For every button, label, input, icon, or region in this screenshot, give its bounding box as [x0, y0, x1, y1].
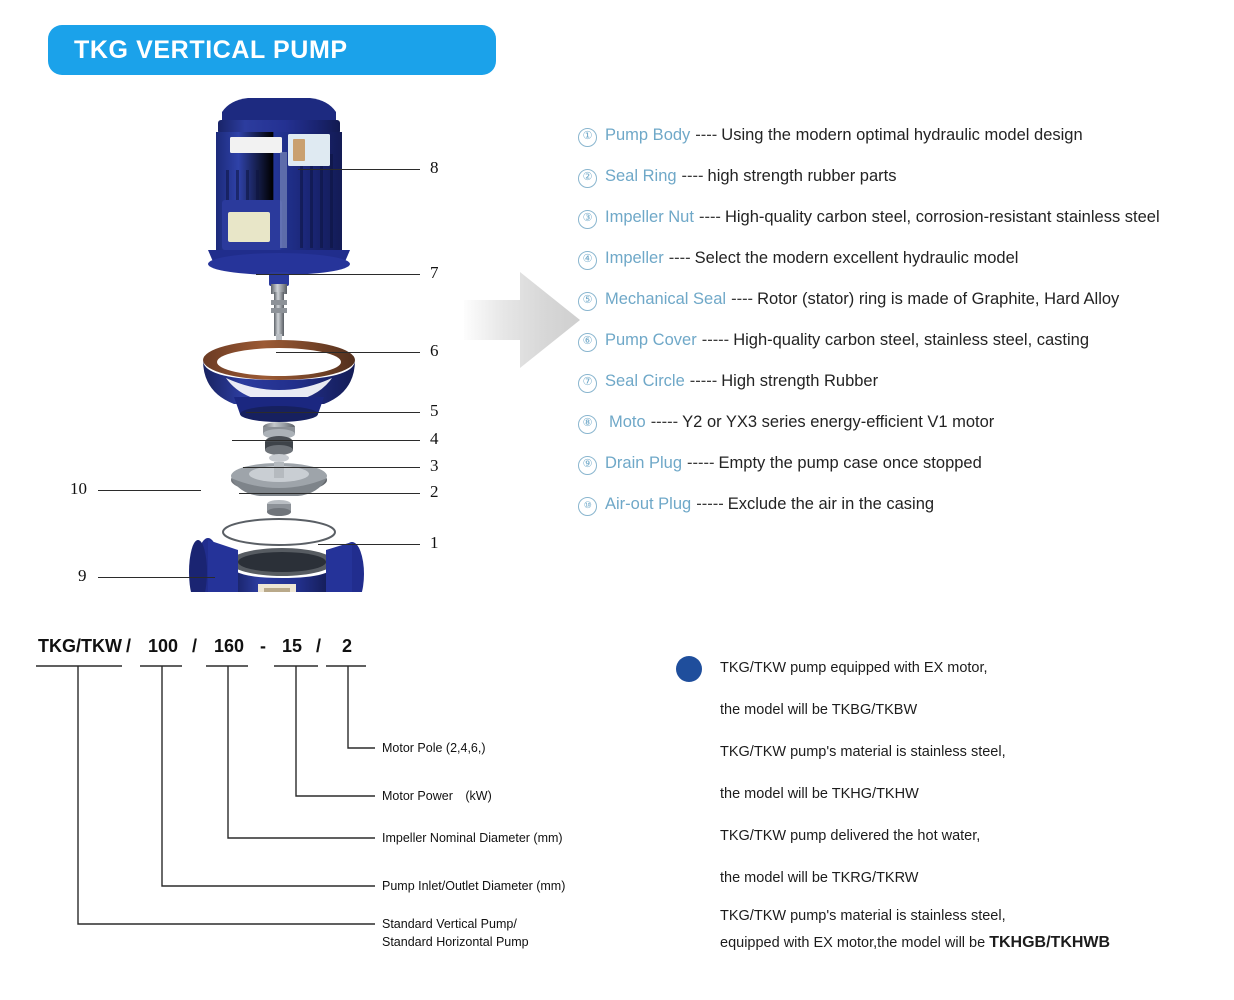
note-line: TKG/TKW pump's material is stainless ste… [720, 744, 1006, 760]
callout-8: 8 [130, 163, 440, 177]
part-row: ⑤ Mechanical Seal ---- Rotor (stator) ri… [578, 290, 1228, 331]
part-number-badge: ⑩ [578, 497, 597, 516]
part-description: High strength Rubber [721, 372, 878, 391]
impeller-nut-part [267, 500, 291, 516]
note-line: the model will be TKHG/TKHW [720, 786, 919, 802]
part-row: ④ Impeller ---- Select the modern excell… [578, 249, 1228, 290]
part-name: Seal Circle [605, 372, 685, 391]
note-line: TKG/TKW pump's material is stainless ste… [720, 908, 1006, 924]
part-dash: ---- [669, 249, 691, 268]
callout-1: 1 [130, 538, 440, 552]
note-line: the model will be TKRG/TKRW [720, 870, 919, 886]
part-dash: ----- [702, 331, 729, 350]
part-dash: ----- [696, 495, 723, 514]
part-dash: ---- [731, 290, 753, 309]
poster-canvas: TKG VERTICAL PUMP [0, 0, 1234, 1000]
part-description: high strength rubber parts [708, 167, 897, 186]
part-row: ⑧ Moto ----- Y2 or YX3 series energy-eff… [578, 413, 1228, 454]
bullet-circle-icon [676, 656, 702, 682]
part-number-badge: ⑨ [578, 456, 597, 475]
callout-4: 4 [130, 434, 440, 448]
part-number-badge: ② [578, 169, 597, 188]
part-dash: ---- [695, 126, 717, 145]
parts-description-list: ① Pump Body ---- Using the modern optima… [578, 126, 1228, 536]
part-dash: ----- [690, 372, 717, 391]
model-leader-label-power: Motor Power (kW) [382, 788, 492, 804]
part-number-badge: ⑦ [578, 374, 597, 393]
callout-6: 6 [130, 346, 440, 360]
note-line-final: equipped with EX motor,the model will be… [720, 934, 1110, 952]
part-dash: ---- [699, 208, 721, 227]
note-line: TKG/TKW pump equipped with EX motor, [720, 660, 988, 676]
part-number-badge: ③ [578, 210, 597, 229]
part-name: Impeller [605, 249, 664, 268]
callout-7: 7 [130, 268, 440, 282]
callout-3: 3 [130, 461, 440, 475]
part-name: Moto [609, 413, 646, 432]
part-dash: ----- [651, 413, 678, 432]
model-code-breakdown: TKG/TKW / 100 / 160 - 15 / 2 [30, 636, 630, 956]
model-leader-lines [30, 636, 630, 956]
part-description: Exclude the air in the casing [728, 495, 934, 514]
part-row: ⑩ Air-out Plug ----- Exclude the air in … [578, 495, 1228, 536]
part-name: Pump Cover [605, 331, 697, 350]
note-line: TKG/TKW pump delivered the hot water, [720, 828, 980, 844]
right-arrow-icon [462, 252, 590, 388]
part-name: Drain Plug [605, 454, 682, 473]
part-number-badge: ④ [578, 251, 597, 270]
part-number-badge: ⑥ [578, 333, 597, 352]
callout-10: 10 [70, 484, 230, 498]
model-leader-label-series-1: Standard Vertical Pump/ [382, 916, 517, 932]
part-description: High-quality carbon steel, corrosion-res… [725, 208, 1160, 227]
model-leader-label-series-2: Standard Horizontal Pump [382, 934, 529, 950]
part-name: Seal Ring [605, 167, 677, 186]
part-name: Air-out Plug [605, 495, 691, 514]
model-leader-label-inlet: Pump Inlet/Outlet Diameter (mm) [382, 878, 565, 894]
note-final-text: equipped with EX motor,the model will be [720, 935, 989, 951]
model-leader-label-impeller: Impeller Nominal Diameter (mm) [382, 830, 563, 846]
part-description: Y2 or YX3 series energy-efficient V1 mot… [682, 413, 994, 432]
part-description: Rotor (stator) ring is made of Graphite,… [757, 290, 1119, 309]
model-leader-label-pole: Motor Pole (2,4,6,) [382, 740, 486, 756]
part-description: Using the modern optimal hydraulic model… [721, 126, 1082, 145]
part-row: ⑥ Pump Cover ----- High-quality carbon s… [578, 331, 1228, 372]
part-description: Empty the pump case once stopped [719, 454, 982, 473]
part-row: ② Seal Ring ---- high strength rubber pa… [578, 167, 1228, 208]
part-name: Pump Body [605, 126, 690, 145]
part-description: Select the modern excellent hydraulic mo… [695, 249, 1019, 268]
part-row: ⑨ Drain Plug ----- Empty the pump case o… [578, 454, 1228, 495]
callout-9: 9 [70, 571, 240, 585]
part-dash: ----- [687, 454, 714, 473]
part-number-badge: ① [578, 128, 597, 147]
part-row: ① Pump Body ---- Using the modern optima… [578, 126, 1228, 167]
part-number-badge: ⑤ [578, 292, 597, 311]
page-title-banner: TKG VERTICAL PUMP [48, 25, 496, 75]
part-name: Mechanical Seal [605, 290, 726, 309]
note-final-model: TKHGB/TKHWB [989, 934, 1110, 951]
part-name: Impeller Nut [605, 208, 694, 227]
part-description: High-quality carbon steel, stainless ste… [733, 331, 1089, 350]
note-line: the model will be TKBG/TKBW [720, 702, 917, 718]
page-title: TKG VERTICAL PUMP [74, 36, 348, 65]
part-row: ⑦ Seal Circle ----- High strength Rubber [578, 372, 1228, 413]
part-dash: ---- [682, 167, 704, 186]
part-row: ③ Impeller Nut ---- High-quality carbon … [578, 208, 1228, 249]
callout-5: 5 [130, 406, 440, 420]
motor-part [208, 98, 350, 275]
part-number-badge: ⑧ [578, 415, 597, 434]
